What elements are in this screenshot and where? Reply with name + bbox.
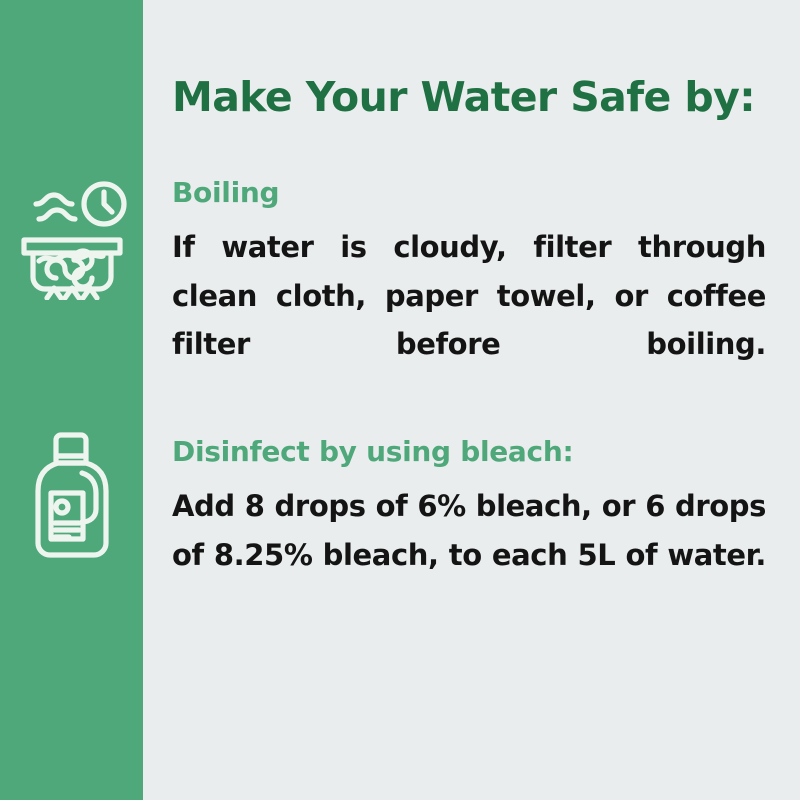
section-body-bleach: Add 8 drops of 6% bleach, or 6 drops of … (172, 482, 766, 628)
section-heading-boiling: Boiling (172, 178, 766, 209)
bleach-bottle-icon (0, 428, 143, 566)
section-bleach: Disinfect by using bleach: Add 8 drops o… (172, 437, 766, 628)
section-boiling: Boiling If water is cloudy, filter throu… (172, 178, 766, 418)
water-safety-infographic: Make Your Water Safe by: Boiling If wate… (0, 0, 800, 800)
icon-rail (0, 0, 143, 800)
section-heading-bleach: Disinfect by using bleach: (172, 437, 766, 468)
page-title: Make Your Water Safe by: (172, 77, 772, 118)
section-body-boiling: If water is cloudy, filter through clean… (172, 223, 766, 418)
boiling-pot-icon (0, 176, 143, 302)
content-column: Make Your Water Safe by: Boiling If wate… (143, 0, 800, 800)
